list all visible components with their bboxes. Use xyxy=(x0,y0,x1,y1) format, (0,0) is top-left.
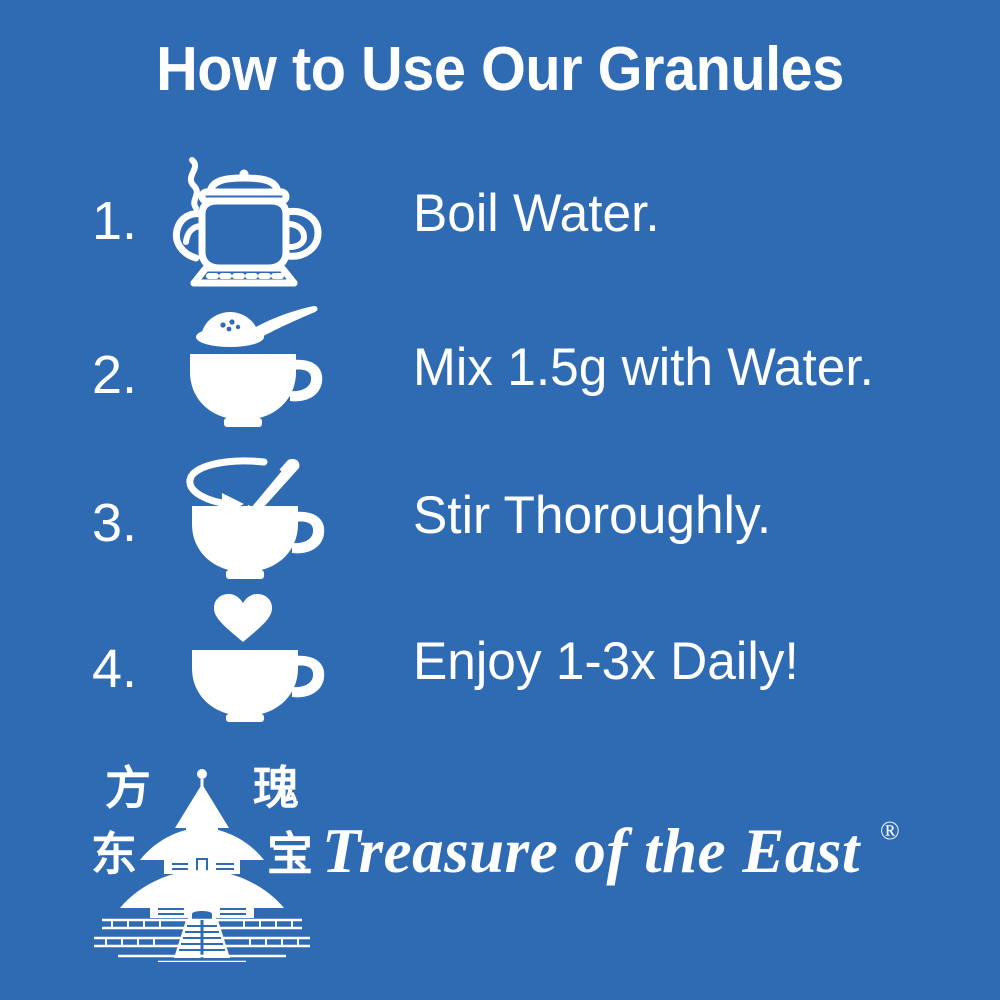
registered-trademark-symbol: ® xyxy=(880,818,900,844)
step-item-1: 1. xyxy=(0,150,1000,290)
step-number-2: 2. xyxy=(92,348,172,402)
steps-list: 1. xyxy=(0,150,1000,720)
logo-char-bottom-right: 宝 xyxy=(267,827,313,881)
step-label-3: Stir Thoroughly. xyxy=(413,488,771,544)
logo-char-top-left: 方 xyxy=(105,761,151,815)
page-title: How to Use Our Granules xyxy=(35,34,965,105)
brand-footer: 方 瑰 东 宝 xyxy=(0,748,1000,978)
teapot-with-steam-icon xyxy=(168,154,338,288)
step-number-1: 1. xyxy=(92,194,172,248)
logo-char-bottom-left: 东 xyxy=(91,827,137,881)
step-number-4: 4. xyxy=(92,642,172,696)
cup-with-spoon-of-granules-icon xyxy=(168,306,338,431)
brand-name: Treasure of the East xyxy=(322,820,860,883)
step-number-3: 3. xyxy=(92,496,172,550)
temple-of-heaven-pagoda-logo: 方 瑰 东 宝 xyxy=(88,752,316,962)
step-label-1: Boil Water. xyxy=(413,186,660,242)
poster-canvas: How to Use Our Granules 1. xyxy=(0,0,1000,1000)
step-label-4: Enjoy 1-3x Daily! xyxy=(413,634,799,690)
step-item-2: 2. xyxy=(0,296,1000,436)
step-label-2: Mix 1.5g with Water. xyxy=(413,340,874,396)
cup-with-heart-icon xyxy=(168,594,338,722)
step-item-3: 3. S xyxy=(0,440,1000,580)
step-item-4: 4. Enjoy 1-3x Daily! xyxy=(0,584,1000,724)
cup-with-stirring-spoon-and-arrow-icon xyxy=(168,452,338,582)
logo-char-top-right: 瑰 xyxy=(253,761,299,815)
